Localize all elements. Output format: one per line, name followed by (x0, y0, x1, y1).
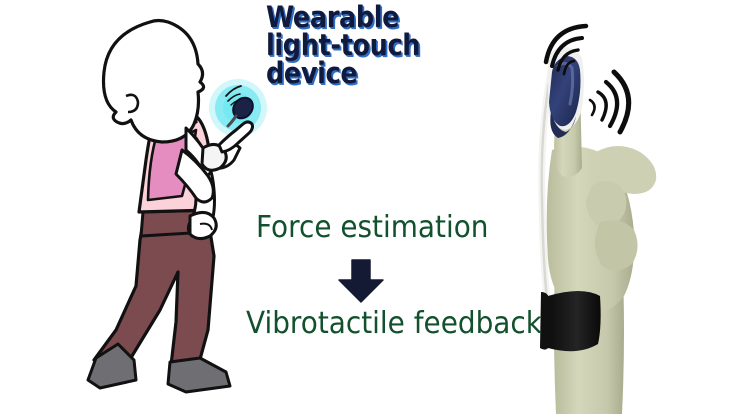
wrist-strap (540, 291, 601, 351)
ring-little-fingers (595, 220, 638, 270)
vibration-arcs-right (590, 72, 629, 132)
figure-title: Wearable light-touch device (266, 4, 451, 87)
title-line-3: device (266, 60, 451, 88)
vibrotactile-feedback-label: Vibrotactile feedback (246, 306, 542, 341)
force-estimation-label: Force estimation (256, 210, 488, 245)
down-arrow-icon (335, 258, 387, 304)
figure-canvas: Wearable light-touch device Force estima… (0, 0, 736, 414)
